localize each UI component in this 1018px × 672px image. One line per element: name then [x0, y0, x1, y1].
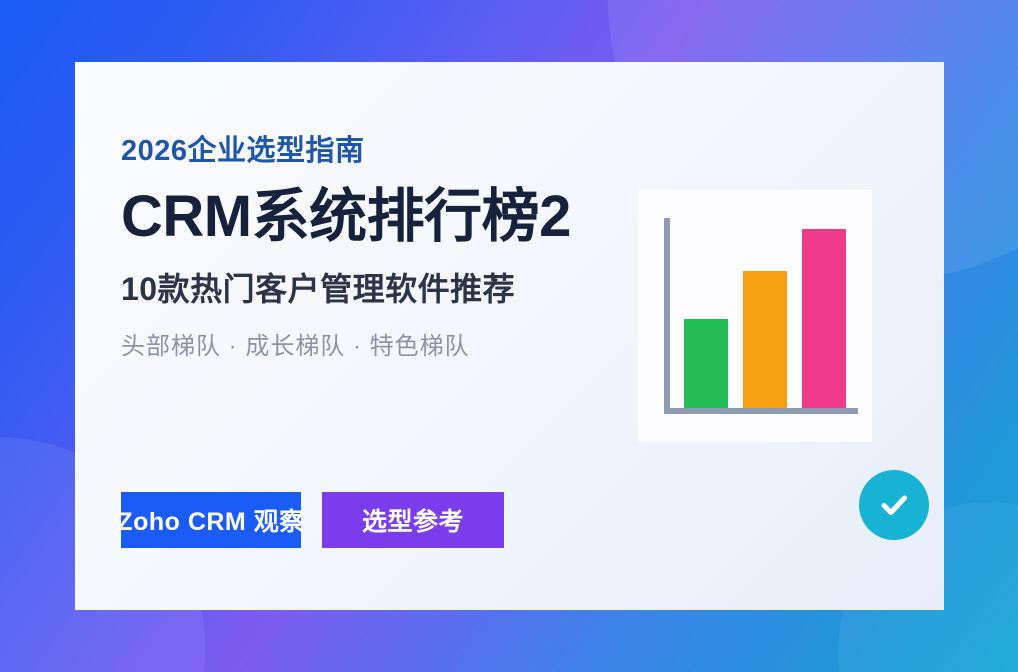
tagline-text: 头部梯队 · 成长梯队 · 特色梯队: [121, 333, 661, 362]
chart-y-axis: [664, 218, 670, 414]
bar-chart-panel: [638, 190, 872, 442]
headline-block: 2026企业选型指南 CRM系统排行榜2 10款热门客户管理软件推荐 头部梯队 …: [121, 136, 661, 362]
selection-reference-button[interactable]: 选型参考: [322, 492, 504, 548]
check-icon: [874, 485, 914, 525]
chart-bar-3: [802, 229, 846, 408]
chart-x-axis: [664, 408, 858, 414]
zoho-crm-observe-button[interactable]: Zoho CRM 观察: [121, 492, 301, 548]
chart-plot-area: [664, 218, 850, 414]
content-card: 2026企业选型指南 CRM系统排行榜2 10款热门客户管理软件推荐 头部梯队 …: [75, 62, 944, 610]
chart-bars: [684, 218, 846, 408]
chart-bar-2: [743, 271, 787, 408]
eyebrow-text: 2026企业选型指南: [121, 136, 661, 168]
subtitle-text: 10款热门客户管理软件推荐: [121, 271, 661, 308]
cta-button-row: Zoho CRM 观察 选型参考: [121, 492, 504, 548]
chart-bar-1: [684, 319, 728, 408]
banner-stage: 2026企业选型指南 CRM系统排行榜2 10款热门客户管理软件推荐 头部梯队 …: [0, 0, 1018, 672]
check-badge: [859, 470, 929, 540]
page-title: CRM系统排行榜2: [121, 186, 661, 249]
